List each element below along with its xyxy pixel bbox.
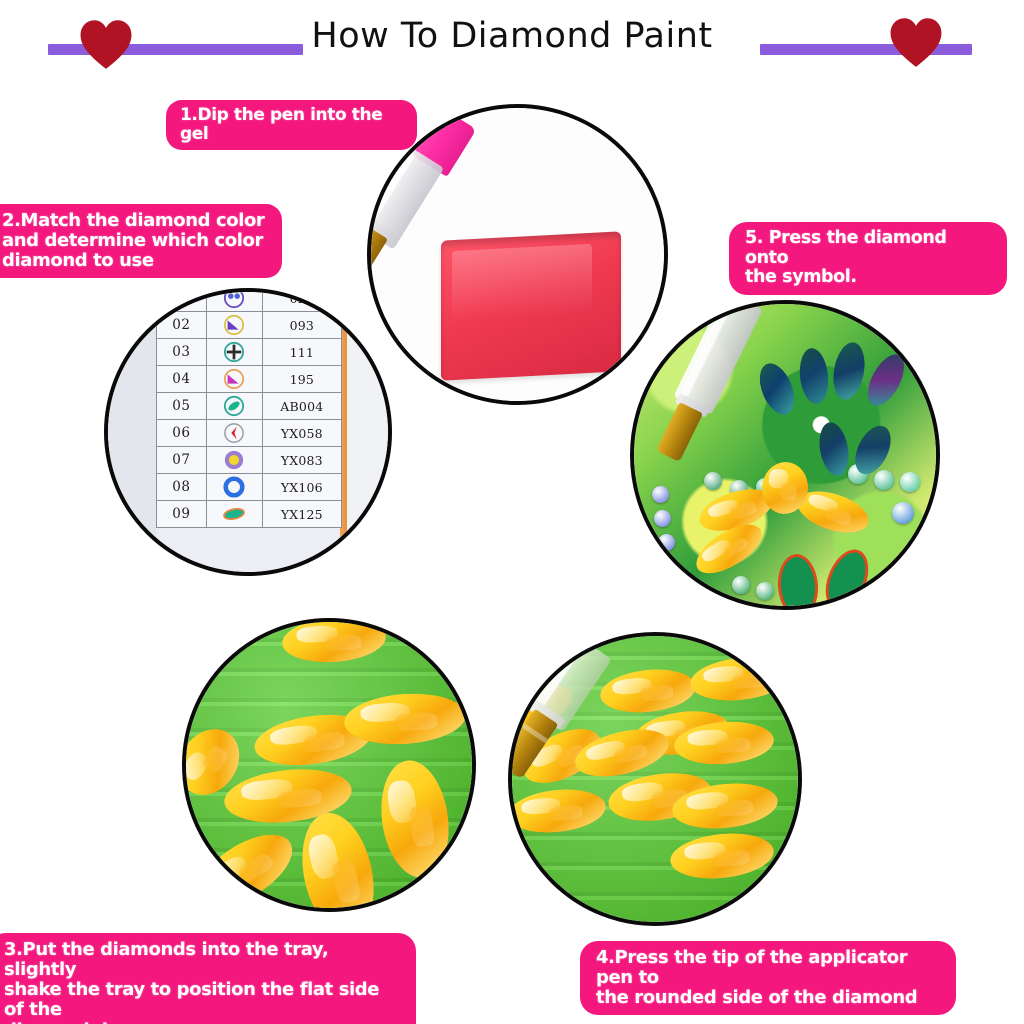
chart-row-code: 111 <box>262 339 341 366</box>
step-5-line-2: the symbol. <box>745 268 991 288</box>
chart-row-code: 028 <box>262 292 341 312</box>
chart-row-code: YX125 <box>262 501 341 528</box>
color-chart-row: 01028 <box>157 292 342 312</box>
step-3-line-2: shake the tray to position the flat side… <box>4 980 400 1020</box>
filled-dot-icon <box>206 447 262 474</box>
color-chart-row: 07YX083 <box>157 447 342 474</box>
step-2-line-2: and determine which color <box>2 231 266 251</box>
chart-row-code: YX083 <box>262 447 341 474</box>
ellipse-icon <box>206 393 262 420</box>
rhinestone <box>756 582 774 600</box>
double-dot-icon <box>206 292 262 312</box>
step-1-line-1: 1.Dip the pen into the gel <box>180 106 403 144</box>
triangle-icon <box>206 312 262 339</box>
chevron-left-icon <box>206 420 262 447</box>
step-3-line-1: 3.Put the diamonds into the tray, slight… <box>4 940 400 980</box>
step-2-line-1: 2.Match the diamond color <box>2 211 266 231</box>
color-chart-row: 04195 <box>157 366 342 393</box>
step-3-label: 3.Put the diamonds into the tray, slight… <box>0 933 416 1024</box>
chart-row-code: AB004 <box>262 393 341 420</box>
rhinestone <box>652 486 669 503</box>
chart-row-number: 02 <box>157 312 207 339</box>
leaf-icon <box>206 501 262 528</box>
rhinestone <box>874 470 894 490</box>
step-4-line-2: the rounded side of the diamond <box>596 988 940 1008</box>
color-chart-row: 06YX058 <box>157 420 342 447</box>
photo-color-chart-table: 0102802093031110419505AB00406YX05807YX08… <box>104 288 392 576</box>
step-5-label: 5. Press the diamond onto the symbol. <box>729 222 1007 295</box>
donut-icon <box>206 474 262 501</box>
chart-row-number: 07 <box>157 447 207 474</box>
chart-row-number: 01 <box>157 292 207 312</box>
rhinestone <box>900 472 920 492</box>
color-chart-row: 09YX125 <box>157 501 342 528</box>
color-chart-row: 08YX106 <box>157 474 342 501</box>
rhinestone <box>892 502 914 524</box>
chart-row-code: YX106 <box>262 474 341 501</box>
photo-diamonds-in-tray <box>182 618 476 912</box>
chart-row-code: 195 <box>262 366 341 393</box>
chart-row-number: 06 <box>157 420 207 447</box>
rhinestone <box>732 576 750 594</box>
color-chart-row: 05AB004 <box>157 393 342 420</box>
chart-row-number: 04 <box>157 366 207 393</box>
rhinestone <box>654 510 671 527</box>
chart-row-number: 03 <box>157 339 207 366</box>
step-4-line-1: 4.Press the tip of the applicator pen to <box>596 948 940 988</box>
step-3-line-3: diamond down <box>4 1021 400 1024</box>
infographic-page: How To Diamond Paint 0102802093031110419… <box>0 0 1024 1024</box>
chart-row-code: 093 <box>262 312 341 339</box>
chart-row-number: 08 <box>157 474 207 501</box>
rhinestone <box>658 534 675 551</box>
step-4-label: 4.Press the tip of the applicator pen to… <box>580 941 956 1015</box>
gel-wax-square <box>441 231 621 380</box>
photo-pen-picking-up-diamond <box>508 632 802 926</box>
chart-row-code: YX058 <box>262 420 341 447</box>
color-chart-body: 0102802093031110419505AB00406YX05807YX08… <box>157 292 342 528</box>
step-5-line-1: 5. Press the diamond onto <box>745 229 991 268</box>
page-title: How To Diamond Paint <box>0 16 1024 56</box>
photo-pen-dipping-into-gel <box>367 104 668 405</box>
triangle-icon <box>206 366 262 393</box>
color-chart-table: 0102802093031110419505AB00406YX05807YX08… <box>156 292 342 528</box>
photo-placing-diamond-on-canvas <box>630 300 940 610</box>
rhinestone <box>704 472 722 490</box>
step-2-label: 2.Match the diamond color and determine … <box>0 204 282 278</box>
chart-row-number: 05 <box>157 393 207 420</box>
color-chart-row: 03111 <box>157 339 342 366</box>
color-chart-row: 02093 <box>157 312 342 339</box>
step-2-line-3: diamond to use <box>2 251 266 271</box>
step-1-label: 1.Dip the pen into the gel <box>166 100 417 150</box>
chart-row-number: 09 <box>157 501 207 528</box>
plus-icon <box>206 339 262 366</box>
